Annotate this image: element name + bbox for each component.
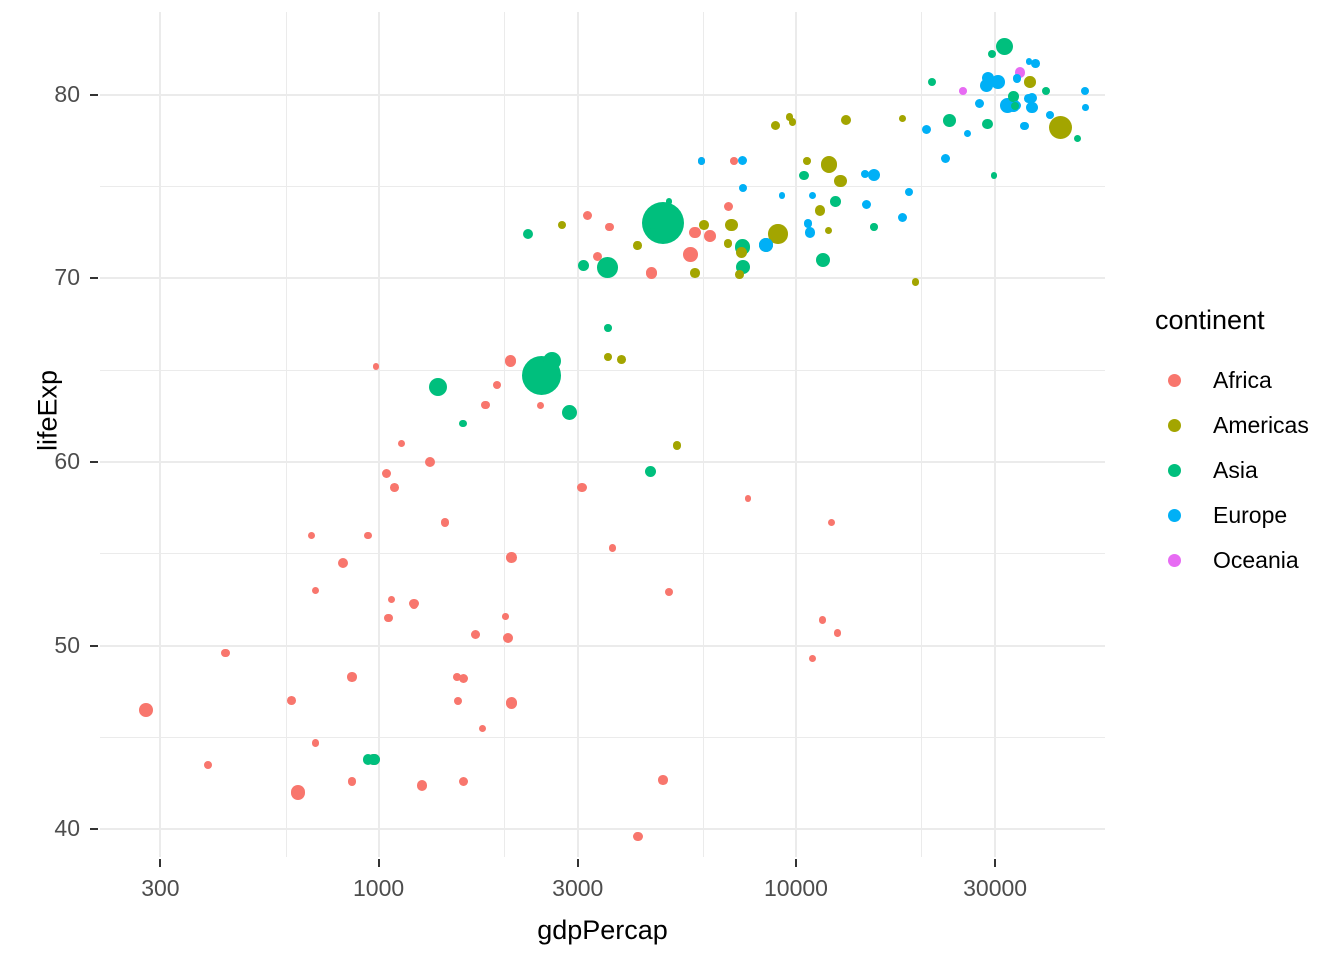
data-point bbox=[221, 649, 230, 658]
data-point bbox=[287, 696, 296, 705]
data-point bbox=[771, 121, 780, 130]
data-point bbox=[441, 518, 450, 527]
data-point bbox=[816, 253, 830, 267]
data-point bbox=[454, 697, 462, 705]
legend-dot-icon bbox=[1168, 464, 1181, 477]
data-point bbox=[834, 629, 841, 636]
data-point bbox=[291, 785, 306, 800]
y-tick-label: 70 bbox=[0, 266, 80, 289]
data-point bbox=[673, 441, 682, 450]
data-point bbox=[348, 777, 357, 786]
data-point bbox=[384, 614, 392, 622]
data-point bbox=[646, 267, 657, 278]
legend-dot-icon bbox=[1168, 374, 1181, 387]
y-tick-mark bbox=[90, 645, 98, 647]
legend: continent AfricaAmericasAsiaEuropeOceani… bbox=[1155, 305, 1344, 583]
data-point bbox=[390, 483, 399, 492]
y-tick-mark bbox=[90, 828, 98, 830]
legend-key-swatch bbox=[1155, 542, 1193, 580]
data-point bbox=[648, 228, 656, 236]
data-point bbox=[479, 725, 486, 732]
y-minor-gridline bbox=[100, 553, 1105, 554]
x-minor-gridline bbox=[703, 12, 704, 857]
data-point bbox=[868, 169, 880, 181]
data-point bbox=[605, 223, 613, 231]
legend-key-swatch bbox=[1155, 497, 1193, 535]
data-point bbox=[724, 202, 733, 211]
data-point bbox=[1049, 116, 1072, 139]
data-point bbox=[1026, 102, 1038, 114]
data-point bbox=[1024, 76, 1036, 88]
data-point bbox=[493, 381, 501, 389]
legend-item-asia[interactable]: Asia bbox=[1155, 448, 1344, 493]
data-point bbox=[991, 172, 998, 179]
data-point bbox=[821, 156, 837, 172]
x-tick-label: 30000 bbox=[915, 877, 1075, 900]
data-point bbox=[861, 170, 869, 178]
legend-item-label: Africa bbox=[1213, 367, 1272, 394]
y-major-gridline bbox=[100, 277, 1105, 279]
x-tick-label: 3000 bbox=[498, 877, 658, 900]
x-tick-mark bbox=[795, 859, 797, 867]
x-major-gridline bbox=[994, 12, 996, 857]
x-minor-gridline bbox=[921, 12, 922, 857]
legend-item-label: Asia bbox=[1213, 457, 1258, 484]
y-tick-mark bbox=[90, 94, 98, 96]
data-point bbox=[725, 219, 737, 231]
x-major-gridline bbox=[378, 12, 380, 857]
data-point bbox=[738, 156, 747, 165]
data-point bbox=[975, 99, 984, 108]
data-point bbox=[338, 558, 348, 568]
data-point bbox=[759, 238, 773, 252]
data-point bbox=[1020, 122, 1028, 130]
data-point bbox=[347, 672, 356, 681]
chart-root: 4050607080300100030001000030000 gdpPerca… bbox=[0, 0, 1344, 960]
x-tick-mark bbox=[378, 859, 380, 867]
x-minor-gridline bbox=[504, 12, 505, 857]
data-point bbox=[698, 157, 706, 165]
data-point bbox=[503, 633, 513, 643]
data-point bbox=[459, 420, 467, 428]
data-point bbox=[583, 211, 592, 220]
data-point bbox=[819, 616, 826, 623]
data-point bbox=[398, 440, 405, 447]
data-point bbox=[312, 739, 320, 747]
legend-key-swatch bbox=[1155, 362, 1193, 400]
y-minor-gridline bbox=[100, 186, 1105, 187]
data-point bbox=[388, 596, 395, 603]
data-point bbox=[736, 247, 747, 258]
data-point bbox=[862, 200, 871, 209]
data-point bbox=[803, 157, 811, 165]
data-point bbox=[633, 832, 642, 841]
data-point bbox=[417, 780, 427, 790]
data-point bbox=[779, 192, 786, 199]
x-tick-mark bbox=[577, 859, 579, 867]
x-tick-mark bbox=[159, 859, 161, 867]
data-point bbox=[382, 469, 391, 478]
data-point bbox=[617, 355, 626, 364]
data-point bbox=[870, 223, 877, 230]
data-point bbox=[825, 227, 833, 235]
legend-item-oceania[interactable]: Oceania bbox=[1155, 538, 1344, 583]
data-point bbox=[410, 601, 418, 609]
x-major-gridline bbox=[577, 12, 579, 857]
data-point bbox=[645, 466, 656, 477]
legend-dot-icon bbox=[1168, 554, 1181, 567]
data-point bbox=[730, 157, 738, 165]
data-point bbox=[204, 761, 212, 769]
data-point bbox=[1026, 58, 1032, 64]
data-point bbox=[683, 247, 698, 262]
data-point bbox=[609, 544, 617, 552]
y-major-gridline bbox=[100, 461, 1105, 463]
data-point bbox=[593, 252, 602, 261]
data-point bbox=[604, 353, 612, 361]
y-major-gridline bbox=[100, 94, 1105, 96]
legend-item-americas[interactable]: Americas bbox=[1155, 403, 1344, 448]
data-point bbox=[690, 268, 699, 277]
x-major-gridline bbox=[159, 12, 161, 857]
data-point bbox=[898, 213, 907, 222]
x-tick-label: 10000 bbox=[716, 877, 876, 900]
x-tick-label: 1000 bbox=[299, 877, 459, 900]
data-point bbox=[459, 777, 468, 786]
data-point bbox=[1011, 102, 1019, 110]
data-point bbox=[481, 401, 489, 409]
data-point bbox=[805, 227, 816, 238]
data-point bbox=[506, 552, 517, 563]
legend-item-label: Americas bbox=[1213, 412, 1309, 439]
plot-panel bbox=[100, 12, 1105, 857]
data-point bbox=[922, 125, 931, 134]
y-axis-title: lifeExp bbox=[33, 321, 64, 501]
data-point bbox=[699, 220, 709, 230]
data-point bbox=[1031, 59, 1040, 68]
legend-item-label: Europe bbox=[1213, 502, 1287, 529]
legend-item-europe[interactable]: Europe bbox=[1155, 493, 1344, 538]
y-tick-label: 40 bbox=[0, 817, 80, 840]
data-point bbox=[537, 402, 544, 409]
data-point bbox=[471, 630, 480, 639]
data-point bbox=[804, 219, 813, 228]
data-point bbox=[834, 175, 846, 187]
x-tick-label: 300 bbox=[80, 877, 240, 900]
data-point bbox=[1074, 135, 1081, 142]
x-axis-title: gdpPercap bbox=[100, 915, 1105, 946]
data-point bbox=[505, 355, 517, 367]
data-point bbox=[739, 184, 747, 192]
data-point bbox=[604, 324, 612, 332]
y-major-gridline bbox=[100, 828, 1105, 830]
legend-key-swatch bbox=[1155, 407, 1193, 445]
data-point bbox=[815, 205, 826, 216]
data-point bbox=[964, 130, 971, 137]
data-point bbox=[941, 154, 950, 163]
y-tick-label: 50 bbox=[0, 634, 80, 657]
data-point bbox=[506, 697, 518, 709]
data-point bbox=[830, 196, 841, 207]
x-major-gridline bbox=[795, 12, 797, 857]
data-point bbox=[666, 198, 673, 205]
data-point bbox=[1013, 74, 1022, 83]
legend-key-swatch bbox=[1155, 452, 1193, 490]
data-point bbox=[809, 192, 816, 199]
data-point bbox=[562, 405, 577, 420]
data-point bbox=[364, 532, 371, 539]
data-point bbox=[523, 229, 533, 239]
data-point bbox=[633, 241, 641, 249]
legend-item-label: Oceania bbox=[1213, 547, 1299, 574]
x-minor-gridline bbox=[286, 12, 287, 857]
data-point bbox=[502, 613, 509, 620]
data-point bbox=[912, 278, 920, 286]
data-point bbox=[308, 532, 315, 539]
data-point bbox=[558, 221, 566, 229]
y-tick-label: 80 bbox=[0, 83, 80, 106]
data-point bbox=[429, 378, 447, 396]
y-tick-mark bbox=[90, 277, 98, 279]
data-point bbox=[841, 115, 851, 125]
y-minor-gridline bbox=[100, 737, 1105, 738]
legend-dot-icon bbox=[1168, 509, 1181, 522]
data-point bbox=[809, 655, 816, 662]
data-point bbox=[578, 260, 589, 271]
data-point bbox=[799, 171, 808, 180]
data-point bbox=[996, 38, 1013, 55]
data-point bbox=[577, 483, 586, 492]
data-point bbox=[724, 239, 732, 247]
data-point bbox=[597, 257, 618, 278]
data-point bbox=[735, 270, 744, 279]
data-point bbox=[928, 78, 936, 86]
x-tick-mark bbox=[994, 859, 996, 867]
data-point bbox=[899, 115, 906, 122]
legend-title: continent bbox=[1155, 305, 1344, 336]
data-point bbox=[425, 457, 436, 468]
data-point bbox=[745, 495, 752, 502]
data-point bbox=[905, 188, 913, 196]
legend-item-africa[interactable]: Africa bbox=[1155, 358, 1344, 403]
data-point bbox=[689, 227, 701, 239]
data-point bbox=[1042, 87, 1050, 95]
data-point bbox=[982, 119, 993, 130]
data-point bbox=[312, 587, 319, 594]
data-point bbox=[943, 114, 956, 127]
data-point bbox=[1046, 111, 1054, 119]
data-point bbox=[665, 588, 673, 596]
data-point bbox=[658, 775, 667, 784]
data-point bbox=[828, 519, 835, 526]
data-point bbox=[1024, 94, 1033, 103]
y-tick-mark bbox=[90, 461, 98, 463]
legend-dot-icon bbox=[1168, 419, 1181, 432]
y-major-gridline bbox=[100, 645, 1105, 647]
data-point bbox=[642, 202, 684, 244]
legend-items: AfricaAmericasAsiaEuropeOceania bbox=[1155, 358, 1344, 583]
y-minor-gridline bbox=[100, 370, 1105, 371]
data-point bbox=[1082, 104, 1089, 111]
data-point bbox=[139, 703, 153, 717]
data-point bbox=[704, 230, 716, 242]
